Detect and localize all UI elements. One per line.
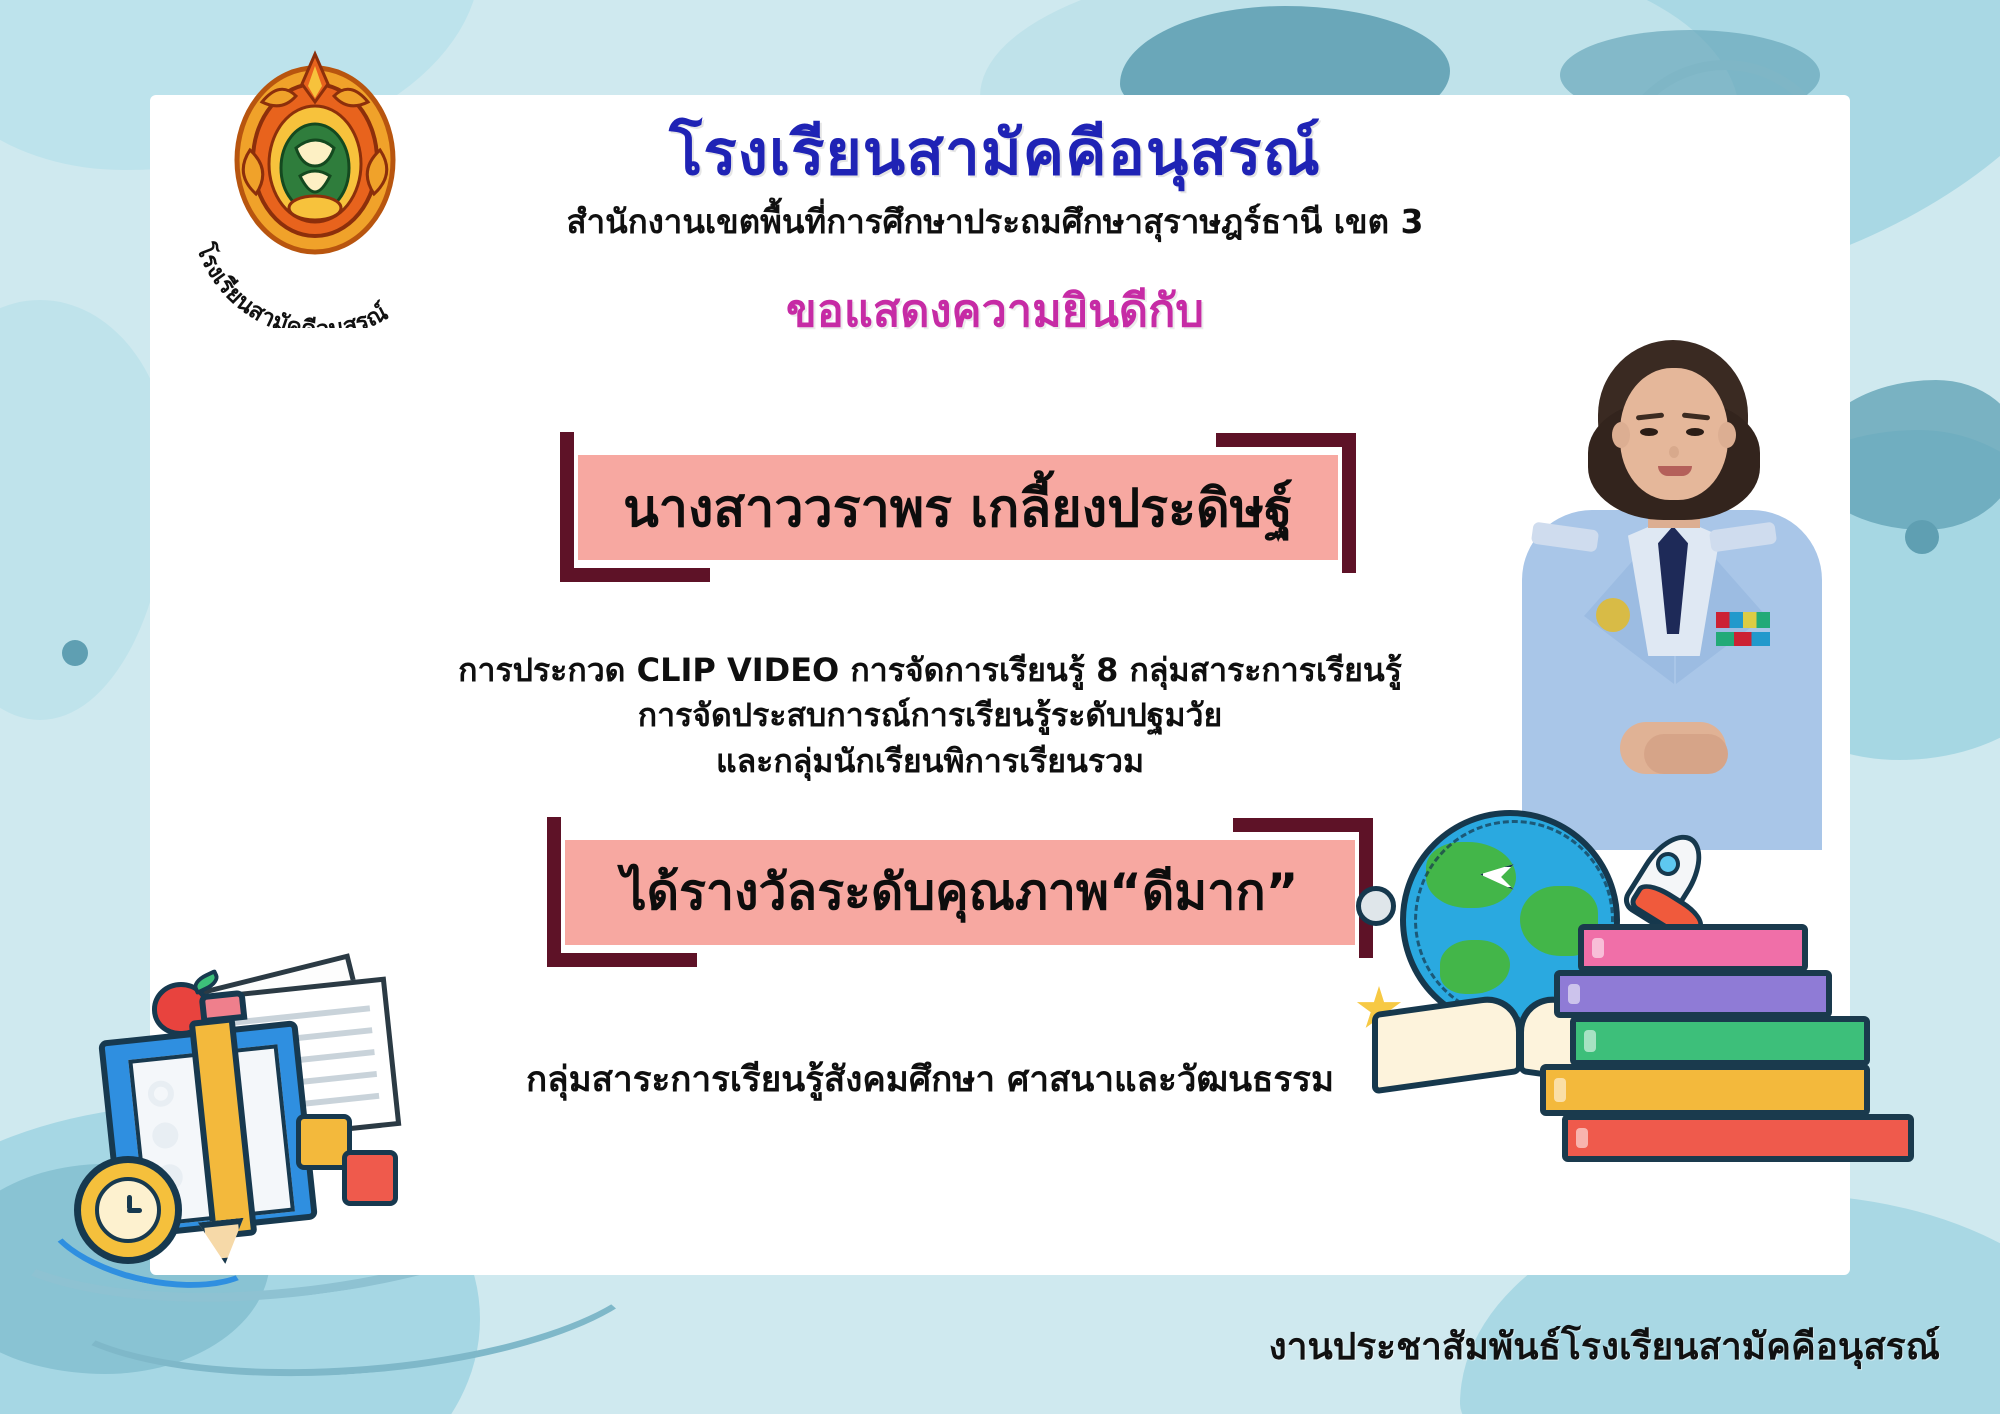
teacher-portrait [1480,330,1860,850]
award-grade: “ดีมาก” [1109,853,1299,932]
school-supplies-illustration [60,974,440,1264]
book-purple [1554,970,1832,1018]
award-prefix: ได้รางวัลระดับคุณภาพ [622,853,1109,932]
competition-detail: การประกวด CLIP VIDEO การจัดการเรียนรู้ 8… [400,648,1460,784]
emblem-arc-label: โรงเรียนสามัคคีอนุสรณ์ [191,238,393,328]
school-emblem: โรงเรียนสามัคคีอนุสรณ์ [200,40,430,330]
svg-text:โรงเรียนสามัคคีอนุสรณ์: โรงเรียนสามัคคีอนุสรณ์ [191,238,393,328]
portrait-ear-left [1612,422,1630,448]
book-yellow [1540,1064,1870,1116]
honoree-name: นางสาววราพร เกลี้ยงประดิษฐ์ [623,466,1293,549]
portrait-nose [1669,446,1679,458]
portrait-ear-right [1718,422,1736,448]
portrait-hands-overlap [1644,734,1728,774]
footer-credit: งานประชาสัมพันธ์โรงเรียนสามัคคีอนุสรณ์ [1269,1317,1940,1376]
book-pink [1578,924,1808,972]
detail-line-1: การประกวด CLIP VIDEO การจัดการเรียนรู้ 8… [400,648,1460,693]
portrait-mouth [1658,466,1692,476]
portrait-face [1620,368,1728,500]
award-bracket-left [547,817,561,967]
moon-icon [1356,886,1396,926]
clock-face [95,1177,161,1243]
bracket-left [560,432,574,582]
congratulations-heading: ขอแสดงความยินดีกับ [430,274,1560,346]
detail-line-2: การจัดประสบการณ์การเรียนรู้ระดับปฐมวัย [400,693,1460,738]
book-green [1570,1016,1870,1066]
background-dot-1 [62,640,88,666]
stacked-books-illustration [1510,924,1940,1164]
award-frame: ได้รางวัลระดับคุณภาพ “ดีมาก” [565,840,1355,945]
book-edge [1576,1128,1588,1148]
clock-icon [74,1156,182,1264]
portrait-eye-left [1640,428,1658,436]
school-title: โรงเรียนสามัคคีอนุสรณ์ [430,120,1560,185]
book-edge [1568,984,1580,1004]
portrait-ribbon-bar-2 [1716,632,1770,646]
clock-hand-hour [127,1208,142,1213]
book-edge [1554,1078,1566,1102]
book-edge [1584,1030,1596,1052]
honoree-name-frame: นางสาววราพร เกลี้ยงประดิษฐ์ [578,455,1338,560]
subject-group-line: กลุ่มสาระการเรียนรู้สังคมศึกษา ศาสนาและว… [380,1052,1480,1107]
portrait-uniform-badge [1596,598,1630,632]
bracket-right [1342,433,1356,573]
background-dot-2 [1905,520,1939,554]
portrait-ribbon-bar-1 [1716,612,1770,628]
detail-line-3: และกลุ่มนักเรียนพิการเรียนรวม [400,739,1460,784]
bracket-bottom-left [560,568,710,582]
book-red [1562,1114,1914,1162]
bracket-top-right [1216,433,1356,447]
portrait-eye-right [1686,428,1704,436]
award-bracket-bottom-left [547,953,697,967]
congratulation-poster: โรงเรียนสามัคคีอนุสรณ์ โรงเรียนสามัคคีอน… [0,0,2000,1414]
award-box: ได้รางวัลระดับคุณภาพ “ดีมาก” [565,840,1355,945]
puzzle-piece-red [342,1150,398,1206]
honoree-name-box: นางสาววราพร เกลี้ยงประดิษฐ์ [578,455,1338,560]
header-block: โรงเรียนสามัคคีอนุสรณ์ สำนักงานเขตพื้นที… [430,120,1560,346]
book-edge [1592,938,1604,958]
emblem-arc-text: โรงเรียนสามัคคีอนุสรณ์ [188,208,438,328]
education-office-subtitle: สำนักงานเขตพื้นที่การศึกษาประถมศึกษาสุรา… [430,195,1560,248]
